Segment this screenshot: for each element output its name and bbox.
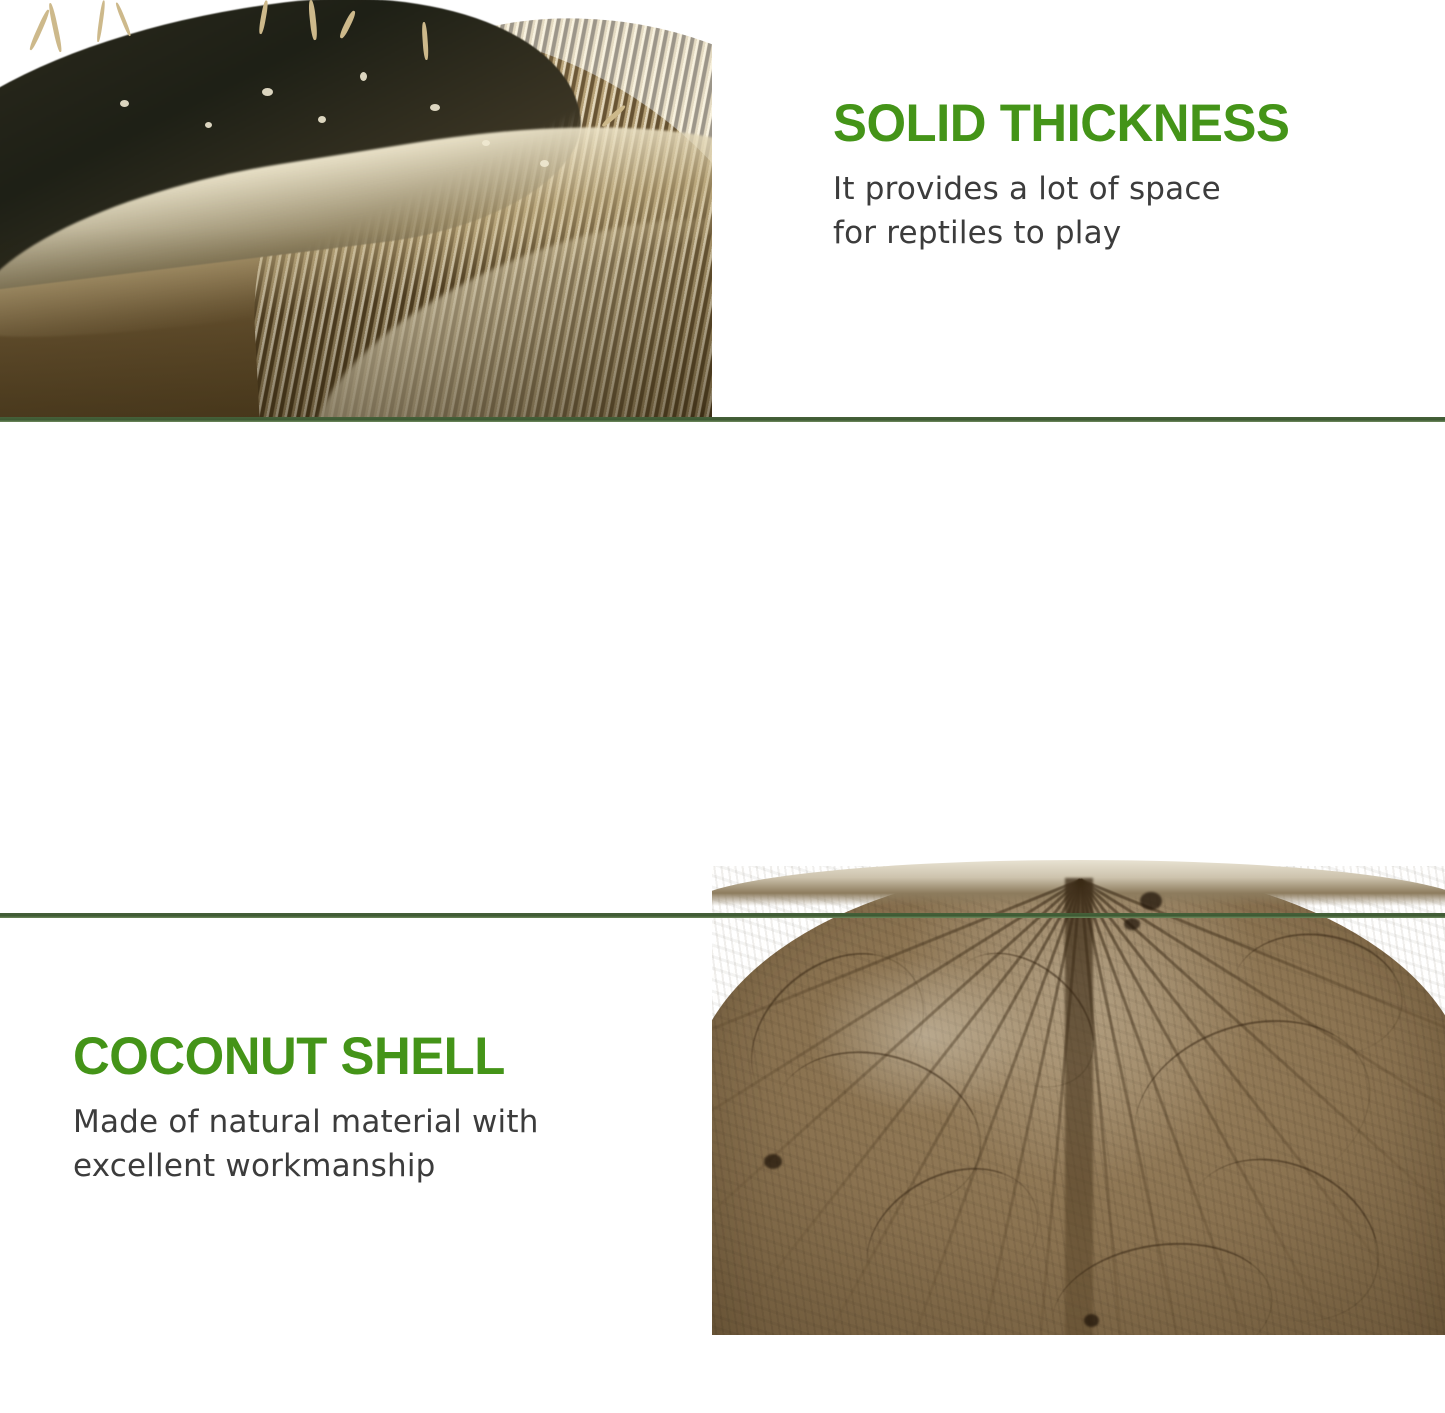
- husk-speck: [360, 72, 367, 81]
- husk-speck: [120, 100, 129, 107]
- husk-hair: [115, 2, 132, 37]
- feature-description: It provides a lot of space for reptiles …: [833, 167, 1433, 255]
- feature-panel-fine-texture: FINE TEXTURE Helps recreate the look and…: [0, 919, 1445, 1413]
- husk-bottom-shading: [0, 228, 712, 418]
- coconut-husk-cross-section-image: [0, 0, 712, 418]
- feature-text-solid-thickness: SOLID THICKNESS It provides a lot of spa…: [833, 97, 1433, 255]
- husk-speck: [318, 116, 326, 123]
- husk-speck: [262, 88, 273, 96]
- husk-hair: [28, 9, 50, 51]
- husk-speck: [430, 104, 440, 111]
- husk-hair: [96, 0, 106, 42]
- husk-illustration: [0, 0, 712, 418]
- section-divider: [0, 913, 1445, 918]
- feature-panel-coconut-shell: COCONUT SHELL Made of natural material w…: [0, 422, 1445, 912]
- husk-speck: [540, 160, 549, 167]
- husk-speck: [205, 122, 212, 128]
- husk-speck: [482, 140, 490, 146]
- husk-hair: [48, 3, 63, 53]
- shell-dark-blotch: [1140, 892, 1162, 910]
- product-feature-infographic: SOLID THICKNESS It provides a lot of spa…: [0, 0, 1445, 1413]
- feature-title: SOLID THICKNESS: [833, 97, 1409, 151]
- feature-panel-solid-thickness: SOLID THICKNESS It provides a lot of spa…: [0, 0, 1445, 418]
